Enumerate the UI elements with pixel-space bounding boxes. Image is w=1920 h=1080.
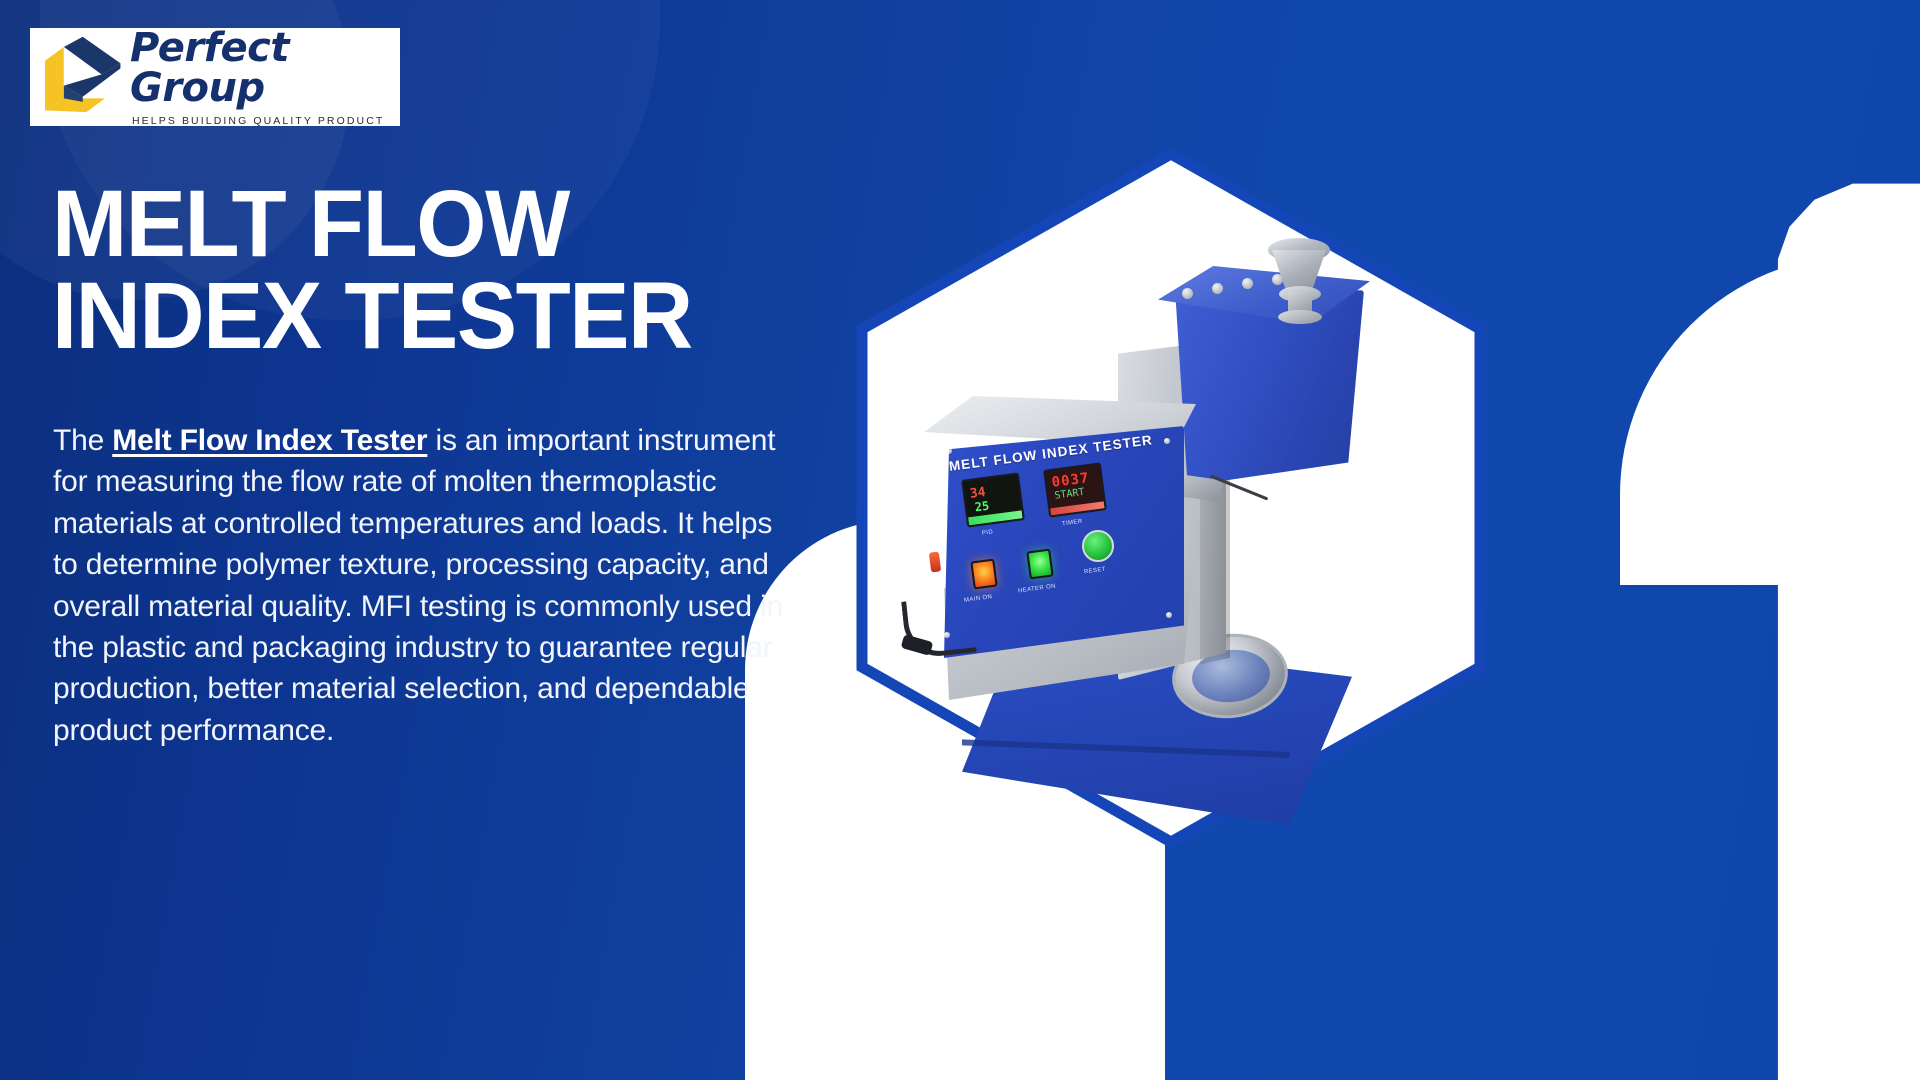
description-paragraph: The Melt Flow Index Tester is an importa… <box>53 420 793 751</box>
machine-indicator-pip <box>929 551 941 572</box>
melt-flow-index-tester-machine: MELT FLOW INDEX TESTER 34 25 PID 0037 ST… <box>900 230 1460 830</box>
reset-button[interactable] <box>1082 530 1114 562</box>
title-line-1: MELT FLOW <box>52 171 569 277</box>
description-emphasis: Melt Flow Index Tester <box>112 424 427 457</box>
machine-heating-chamber <box>1168 290 1364 486</box>
logo-text-block: Perfect Group HELPS BUILDING QUALITY PRO… <box>130 28 390 127</box>
timer-display: 0037 START <box>1043 462 1107 517</box>
description-part-1: The <box>53 424 112 457</box>
brand-logo: Perfect Group HELPS BUILDING QUALITY PRO… <box>30 28 400 126</box>
pid-value-bottom: 25 <box>974 499 990 515</box>
chevron-logo-icon <box>38 35 124 119</box>
poster-stage: Perfect Group HELPS BUILDING QUALITY PRO… <box>0 0 1920 1080</box>
timer-value-bottom: START <box>1054 487 1085 502</box>
heater-on-switch[interactable] <box>1026 549 1053 580</box>
pid-controller-display: 34 25 <box>961 472 1025 527</box>
machine-funnel-foot <box>1278 310 1322 324</box>
description-part-2: is an important instrument for measuring… <box>53 424 783 747</box>
logo-company-name: Perfect Group <box>130 28 390 108</box>
logo-tagline: HELPS BUILDING QUALITY PRODUCT <box>130 115 390 127</box>
page-title: MELT FLOW INDEX TESTER <box>52 178 831 362</box>
main-on-switch[interactable] <box>970 559 997 590</box>
title-line-2: INDEX TESTER <box>52 270 831 362</box>
